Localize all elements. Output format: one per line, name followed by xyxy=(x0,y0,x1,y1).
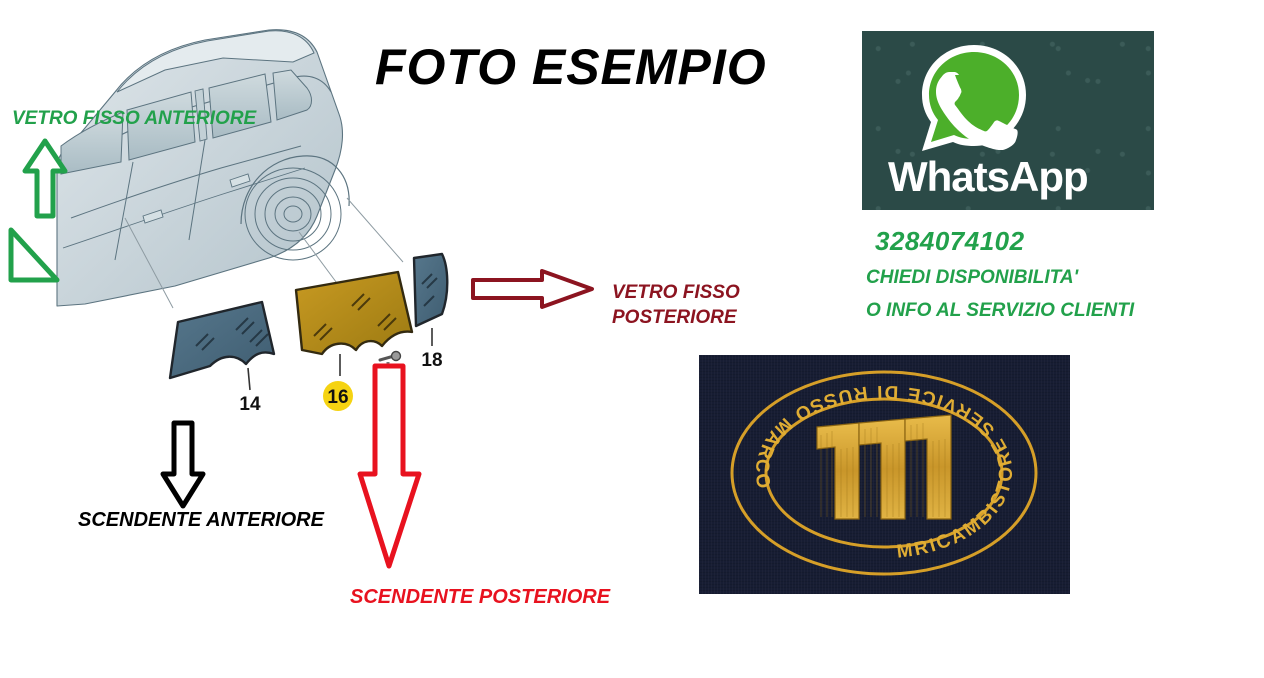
contact-availability-line: CHIEDI DISPONIBILITA' xyxy=(866,267,1078,289)
contact-phone-number[interactable]: 3284074102 xyxy=(875,226,1025,257)
arrow-up-green-icon xyxy=(22,138,68,220)
brand-logo-photo: MRICAMBISTORE SERVICE DI RUSSO MARCO xyxy=(699,355,1070,594)
arrow-down-black-icon xyxy=(160,420,206,510)
brand-logo-mark: MRICAMBISTORE SERVICE DI RUSSO MARCO xyxy=(699,355,1070,594)
label-scendente-posteriore: SCENDENTE POSTERIORE xyxy=(350,586,610,609)
arrow-right-dark-red-icon xyxy=(470,268,595,310)
poster-canvas: FOTO ESEMPIO VETRO FISSO ANTERIORE xyxy=(0,0,1264,678)
label-vetro-fisso-anteriore: VETRO FISSO ANTERIORE xyxy=(12,108,256,130)
whatsapp-icon xyxy=(914,39,1034,157)
arrow-down-red-icon xyxy=(355,362,425,572)
label-vetro-fisso-posteriore: VETRO FISSO POSTERIORE xyxy=(612,280,740,330)
whatsapp-banner[interactable]: WhatsApp xyxy=(862,31,1154,210)
contact-customer-service-line: O INFO AL SERVIZIO CLIENTI xyxy=(866,300,1134,322)
part-18-shape xyxy=(414,254,447,346)
part-badge-16: 16 xyxy=(323,381,353,411)
page-title: FOTO ESEMPIO xyxy=(375,38,805,96)
triangle-green-icon xyxy=(6,225,62,285)
exploded-parts-diagram: 16 17 18 14 xyxy=(150,250,480,440)
svg-text:16: 16 xyxy=(327,387,348,408)
whatsapp-wordmark: WhatsApp xyxy=(888,153,1128,201)
part-14-shape xyxy=(170,302,274,390)
label-scendente-anteriore: SCENDENTE ANTERIORE xyxy=(78,509,324,532)
part-label-14: 14 xyxy=(239,394,261,415)
